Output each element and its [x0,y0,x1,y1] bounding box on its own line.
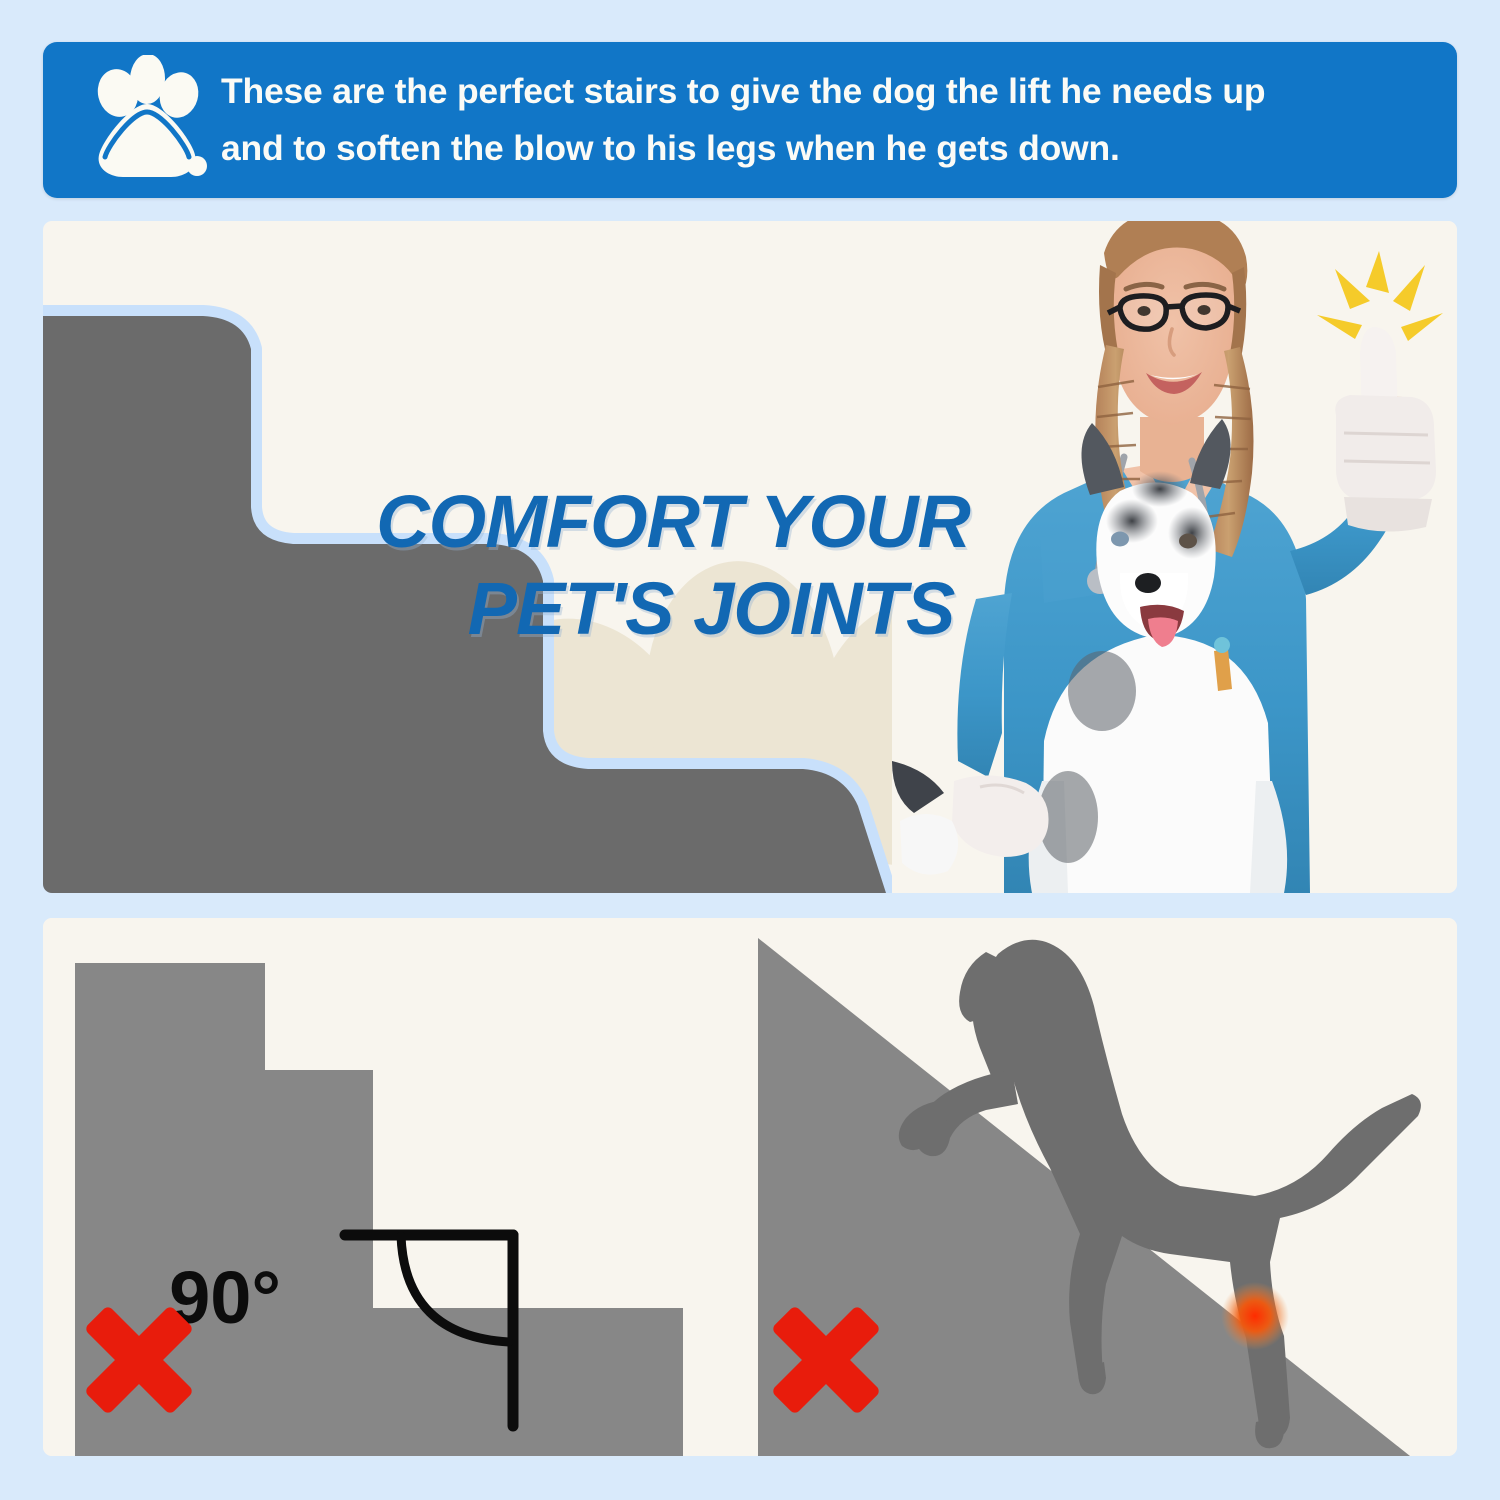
tip-banner: These are the perfect stairs to give the… [43,42,1457,198]
panel-square-stairs: 90° [43,918,750,1456]
panel-steep-ramp [750,918,1457,1456]
banner-line-1: These are the perfect stairs to give the… [221,71,1265,111]
paw-print-icon [71,55,221,185]
vet-with-dog-photo [892,221,1457,893]
banner-message: These are the perfect stairs to give the… [221,63,1305,178]
hero-card: COMFORT YOUR PET'S JOINTS [43,221,1457,893]
joint-pain-highlight [1221,1282,1289,1350]
banner-line-2: and to soften the blow to his legs when … [221,128,1120,168]
comparison-card: 90° [43,918,1457,1456]
